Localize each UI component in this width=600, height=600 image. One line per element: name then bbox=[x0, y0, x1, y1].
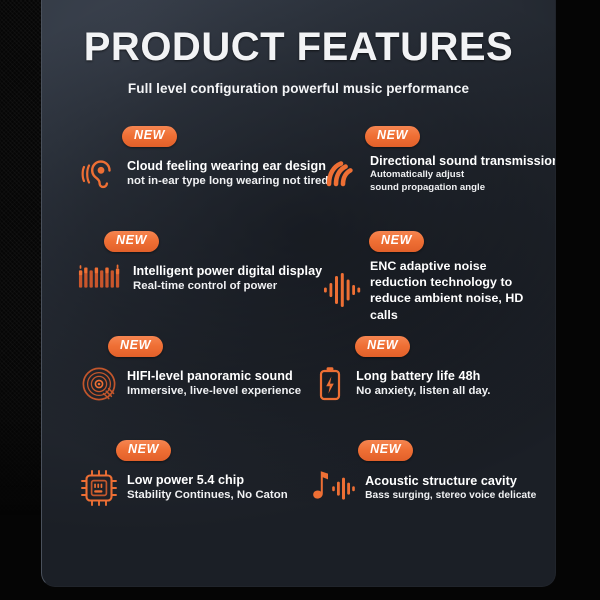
music-note-waveform-icon bbox=[310, 467, 358, 509]
feature-subtitle: Immersive, live-level experience bbox=[127, 384, 301, 399]
page-title: PRODUCT FEATURES bbox=[42, 26, 555, 68]
page-subtitle: Full level configuration powerful music … bbox=[42, 81, 555, 96]
digital-power-display-icon bbox=[78, 258, 126, 300]
features-card: PRODUCT FEATURES Full level configuratio… bbox=[41, 0, 556, 587]
status-badge: NEW bbox=[365, 126, 420, 147]
features-row: NEW bbox=[64, 126, 539, 231]
feature-low-power-5-4-chip[interactable]: NEW bbox=[64, 440, 300, 544]
feature-title: Acoustic structure cavity bbox=[365, 473, 536, 489]
feature-body: Cloud feeling wearing ear design not in-… bbox=[78, 153, 311, 195]
feature-title: Long battery life 48h bbox=[356, 368, 490, 384]
feature-hifi-level-panoramic-sound[interactable]: NEW bbox=[64, 336, 301, 440]
feature-title: ENC adaptive noise reduction technology … bbox=[370, 258, 530, 324]
background-texture bbox=[0, 0, 42, 600]
feature-subtitle: No anxiety, listen all day. bbox=[356, 384, 490, 399]
header: PRODUCT FEATURES Full level configuratio… bbox=[42, 0, 555, 96]
badge-wrap: NEW bbox=[311, 336, 539, 357]
features-row: NEW bbox=[64, 231, 539, 336]
feature-directional-sound-transmission-technology[interactable]: NEW bbox=[311, 126, 556, 231]
feature-title: Cloud feeling wearing ear design bbox=[127, 158, 311, 174]
status-badge: NEW bbox=[122, 126, 177, 147]
directional-sound-waves-icon bbox=[321, 153, 363, 195]
feature-long-battery-life-48h[interactable]: NEW Long battery life 48h No a bbox=[301, 336, 539, 440]
feature-subtitle: Real-time control of power bbox=[133, 279, 311, 294]
battery-bolt-icon bbox=[311, 363, 349, 405]
feature-title: Directional sound transmission technolog… bbox=[370, 153, 556, 169]
feature-text: Intelligent power digital display Real-t… bbox=[133, 263, 311, 294]
status-badge: NEW bbox=[369, 231, 424, 252]
feature-intelligent-power-digital-display[interactable]: NEW bbox=[64, 231, 311, 336]
feature-body: Low power 5.4 chip Stability Continues, … bbox=[78, 467, 300, 509]
features-row: NEW bbox=[64, 440, 539, 544]
feature-body: HIFI-level panoramic sound Immersive, li… bbox=[78, 363, 301, 405]
feature-text: Long battery life 48h No anxiety, listen… bbox=[356, 368, 490, 399]
feature-title: HIFI-level panoramic sound bbox=[127, 368, 301, 384]
feature-title: Low power 5.4 chip bbox=[127, 472, 288, 488]
feature-body: ENC adaptive noise reduction technology … bbox=[321, 258, 539, 324]
badge-wrap: NEW bbox=[321, 126, 556, 147]
feature-text: Low power 5.4 chip Stability Continues, … bbox=[127, 472, 288, 503]
feature-text: ENC adaptive noise reduction technology … bbox=[370, 258, 530, 324]
feature-cloud-feeling-wearing-ear-design[interactable]: NEW bbox=[64, 126, 311, 231]
feature-body: Directional sound transmission technolog… bbox=[321, 153, 556, 195]
features-grid: NEW bbox=[42, 126, 555, 544]
feature-body: Long battery life 48h No anxiety, listen… bbox=[311, 363, 539, 405]
status-badge: NEW bbox=[355, 336, 410, 357]
feature-subtitle: not in-ear type long wearing not tired bbox=[127, 174, 311, 189]
badge-wrap: NEW bbox=[78, 336, 301, 357]
status-badge: NEW bbox=[104, 231, 159, 252]
feature-text: Directional sound transmission technolog… bbox=[370, 153, 556, 194]
badge-wrap: NEW bbox=[310, 440, 539, 461]
feature-subtitle: Stability Continues, No Caton bbox=[127, 488, 288, 503]
status-badge: NEW bbox=[116, 440, 171, 461]
infographic-root: PRODUCT FEATURES Full level configuratio… bbox=[0, 0, 600, 600]
ear-sound-icon bbox=[78, 153, 120, 195]
feature-body: Acoustic structure cavity Bass surging, … bbox=[310, 467, 539, 509]
feature-subtitle: Bass surging, stereo voice delicate bbox=[365, 489, 536, 502]
feature-enc-adaptive-noise-reduction[interactable]: NEW bbox=[311, 231, 539, 336]
feature-text: Cloud feeling wearing ear design not in-… bbox=[127, 158, 311, 189]
badge-wrap: NEW bbox=[78, 231, 311, 252]
badge-wrap: NEW bbox=[78, 126, 311, 147]
badge-wrap: NEW bbox=[78, 440, 300, 461]
feature-subtitle: Automatically adjust sound propagation a… bbox=[370, 169, 494, 194]
feature-acoustic-structure-cavity[interactable]: NEW bbox=[300, 440, 539, 544]
vinyl-record-icon bbox=[78, 363, 120, 405]
cpu-chip-icon bbox=[78, 467, 120, 509]
feature-title: Intelligent power digital display bbox=[133, 263, 311, 279]
feature-text: HIFI-level panoramic sound Immersive, li… bbox=[127, 368, 301, 399]
badge-wrap: NEW bbox=[321, 231, 539, 252]
status-badge: NEW bbox=[108, 336, 163, 357]
audio-waveform-icon bbox=[321, 269, 363, 311]
feature-body: Intelligent power digital display Real-t… bbox=[78, 258, 311, 300]
feature-text: Acoustic structure cavity Bass surging, … bbox=[365, 473, 536, 502]
features-row: NEW bbox=[64, 336, 539, 440]
status-badge: NEW bbox=[358, 440, 413, 461]
